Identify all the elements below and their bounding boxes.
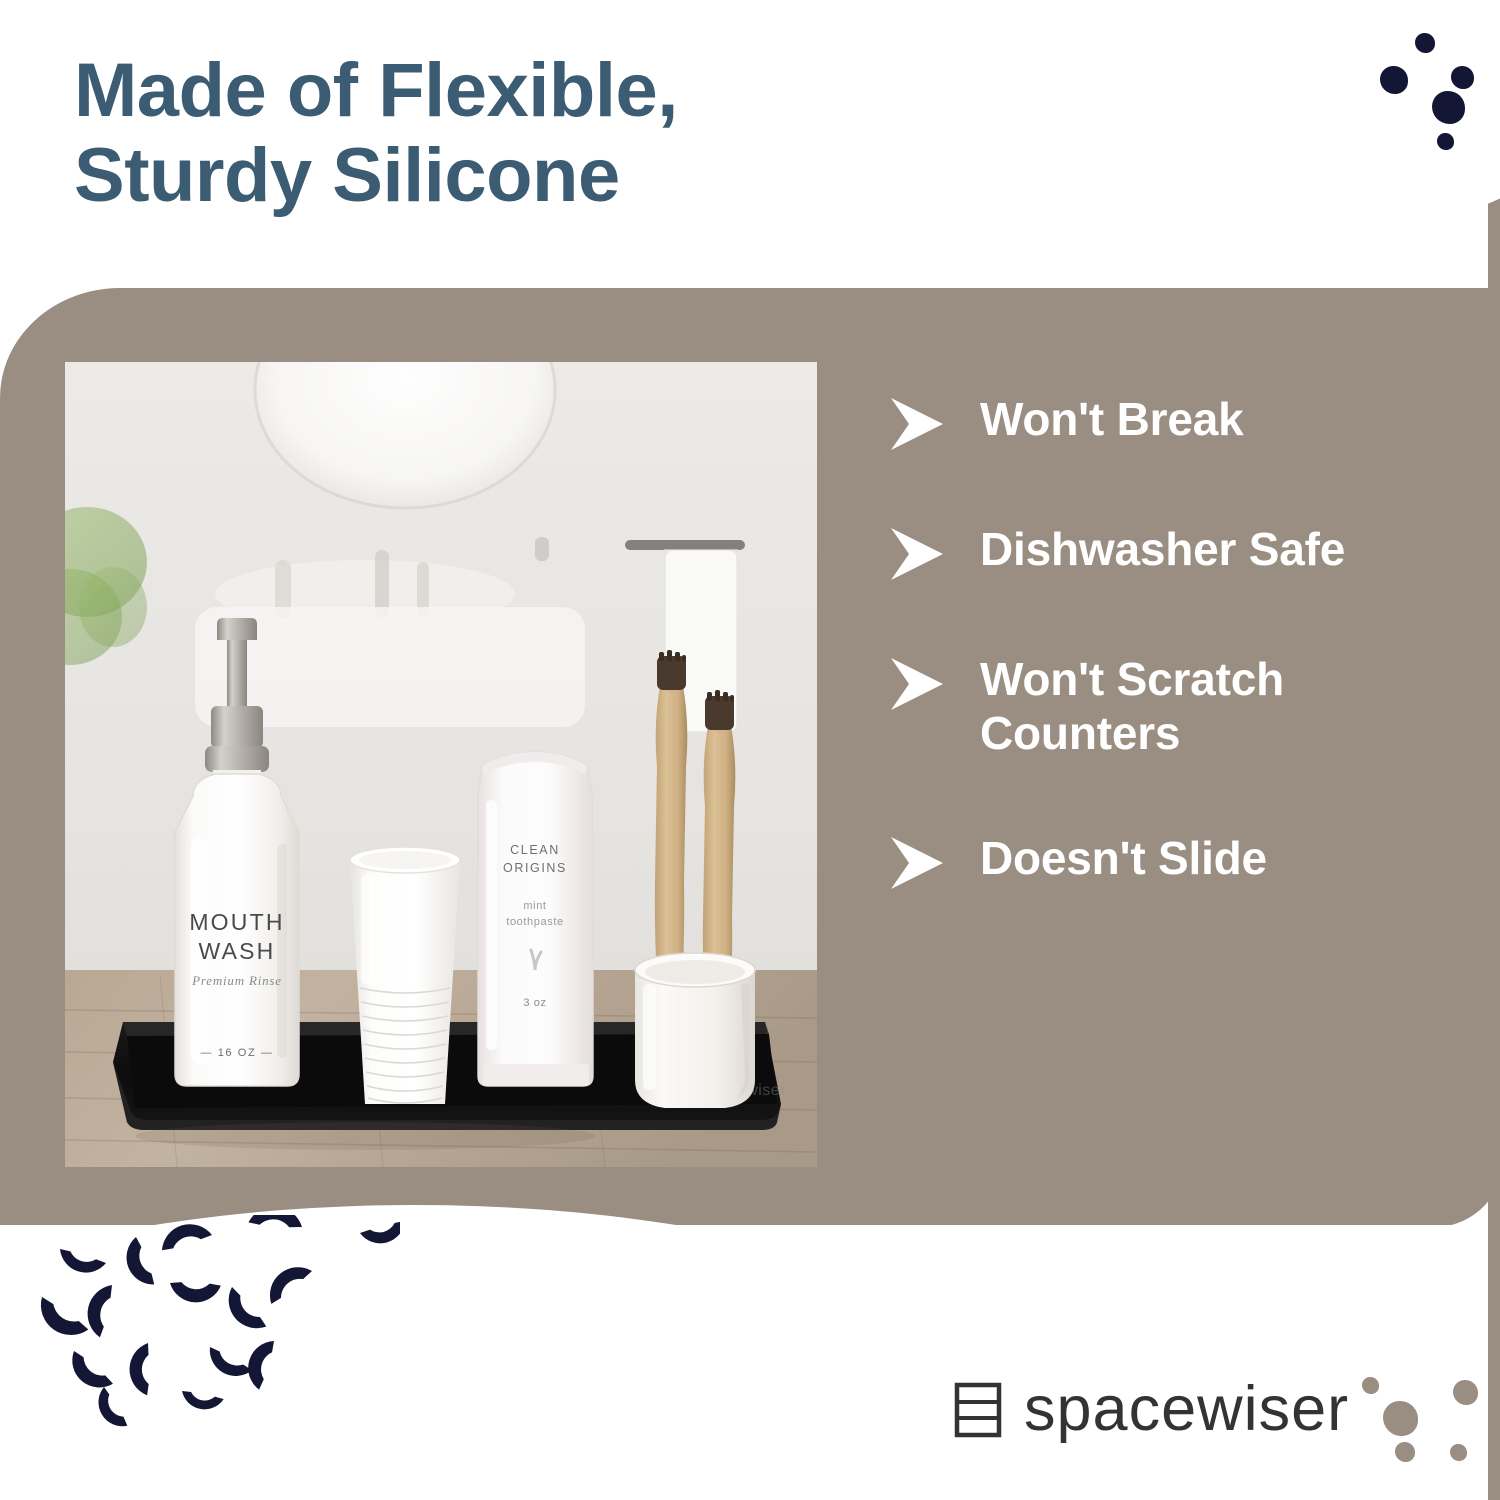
svg-text:ORIGINS: ORIGINS	[503, 861, 567, 875]
product-photo: spacewiser MOUTH WASH Premiu	[65, 362, 817, 1167]
arrow-right-icon	[888, 526, 946, 582]
crescent-decoration-cluster	[20, 1215, 400, 1445]
benefit-item-wont-scratch-counters: Won't Scratch Counters	[888, 652, 1418, 761]
decor-dot-taupe	[1383, 1401, 1418, 1436]
svg-text:3 oz: 3 oz	[523, 997, 546, 1009]
page-title: Made of Flexible, Sturdy Silicone	[74, 48, 954, 218]
decor-dot-taupe	[1450, 1444, 1467, 1461]
benefit-label: Won't Scratch Counters	[980, 652, 1400, 761]
brand-wordmark: spacewiser	[1024, 1378, 1349, 1441]
decor-dot-taupe	[1362, 1377, 1379, 1394]
svg-text:CLEAN: CLEAN	[510, 843, 560, 857]
svg-text:— 16 OZ —: — 16 OZ —	[200, 1047, 273, 1059]
benefit-item-wont-break: Won't Break	[888, 392, 1418, 452]
decor-dot-navy	[1451, 66, 1474, 89]
crescent-decoration-svg	[20, 1215, 400, 1445]
decor-dot-navy	[1415, 33, 1435, 53]
decor-dot-navy	[1380, 66, 1408, 94]
benefits-list: Won't Break Dishwasher Safe Won't Scratc…	[888, 392, 1418, 891]
headline-line-1: Made of Flexible,	[74, 48, 954, 133]
infographic-canvas: Made of Flexible, Sturdy Silicone	[0, 0, 1500, 1500]
decor-dot-navy	[1432, 91, 1465, 124]
toothpaste-tube: CLEAN ORIGINS mint toothpaste 3 oz	[478, 752, 593, 1086]
arrow-right-icon	[888, 396, 946, 452]
decor-dot-taupe	[1453, 1380, 1478, 1405]
benefit-label: Dishwasher Safe	[980, 522, 1345, 576]
headline-line-2: Sturdy Silicone	[74, 133, 954, 218]
shelf-icon	[952, 1380, 1004, 1440]
svg-text:Premium Rinse: Premium Rinse	[191, 973, 282, 988]
benefit-label: Doesn't Slide	[980, 831, 1267, 885]
paper-cup-stack	[350, 847, 460, 1104]
svg-text:toothpaste: toothpaste	[506, 916, 563, 928]
benefit-label: Won't Break	[980, 392, 1244, 446]
benefit-item-doesnt-slide: Doesn't Slide	[888, 831, 1418, 891]
brand-logo: spacewiser	[952, 1378, 1349, 1441]
product-photo-illustration: spacewiser MOUTH WASH Premiu	[65, 362, 817, 1167]
decor-dot-taupe	[1395, 1442, 1415, 1462]
arrow-right-icon	[888, 656, 946, 712]
arrow-right-icon	[888, 835, 946, 891]
svg-text:WASH: WASH	[199, 938, 276, 964]
decor-dot-navy	[1437, 133, 1454, 150]
svg-text:mint: mint	[523, 900, 546, 912]
svg-text:MOUTH: MOUTH	[189, 909, 284, 935]
benefit-item-dishwasher-safe: Dishwasher Safe	[888, 522, 1418, 582]
